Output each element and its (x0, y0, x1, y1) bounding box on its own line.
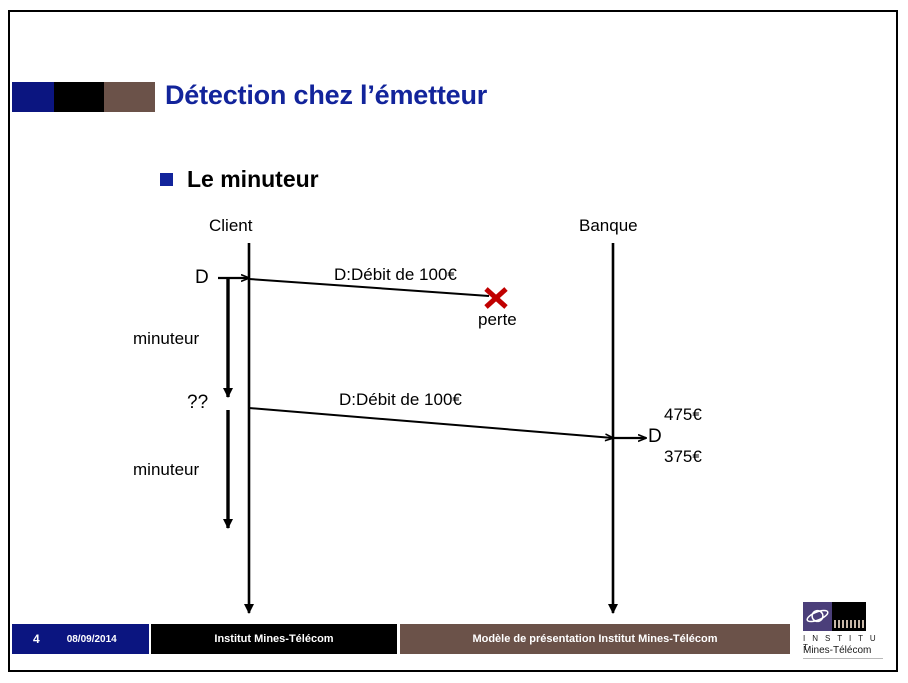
timer-label-2: minuteur (133, 461, 199, 478)
lifeline-label-client-text: Client (209, 216, 252, 235)
footer-institution-label: Institut Mines-Télécom (214, 633, 333, 645)
footer-template: Modèle de présentation Institut Mines-Té… (400, 624, 790, 654)
deco-block-blue (12, 82, 54, 112)
slide-number: 4 (33, 632, 40, 646)
logo-squares (803, 602, 866, 631)
slide: Détection chez l’émetteur Le minuteur (0, 0, 908, 683)
loss-label: perte (478, 311, 517, 328)
logo-barcode-icon (834, 620, 864, 628)
square-bullet-icon (160, 173, 173, 186)
message-label-2: D:Débit de 100€ (339, 391, 462, 408)
footer-slide-info: 4 08/09/2014 (12, 624, 149, 654)
footer-institution: Institut Mines-Télécom (151, 624, 397, 654)
page-title: Détection chez l’émetteur (165, 80, 487, 111)
lifeline-label-client: Client (209, 217, 252, 234)
logo-planet-glyph (803, 602, 832, 631)
balance-before: 475€ (664, 406, 702, 423)
lifeline-label-banque: Banque (579, 217, 638, 234)
debit-marker-1: D (195, 268, 209, 287)
logo-divider (803, 658, 883, 659)
unknown-label: ?? (187, 393, 208, 412)
message-label-1: D:Débit de 100€ (334, 266, 457, 283)
lifeline-label-banque-text: Banque (579, 216, 638, 235)
logo-planet-icon (803, 602, 832, 631)
header-decoration (12, 82, 155, 112)
bullet-item-label: Le minuteur (187, 166, 319, 193)
deco-block-brown (104, 82, 155, 112)
deco-block-black (54, 82, 104, 112)
timer-label-1: minuteur (133, 330, 199, 347)
institut-mines-telecom-logo: I N S T I T U T Mines-Télécom (803, 602, 888, 662)
bullet-item: Le minuteur (160, 166, 319, 193)
slide-date: 08/09/2014 (67, 634, 117, 645)
balance-after: 375€ (664, 448, 702, 465)
logo-mines-telecom-label: Mines-Télécom (803, 645, 871, 656)
logo-barcode-block (832, 602, 866, 631)
footer-template-label: Modèle de présentation Institut Mines-Té… (472, 633, 717, 645)
debit-marker-2: D (648, 427, 662, 446)
